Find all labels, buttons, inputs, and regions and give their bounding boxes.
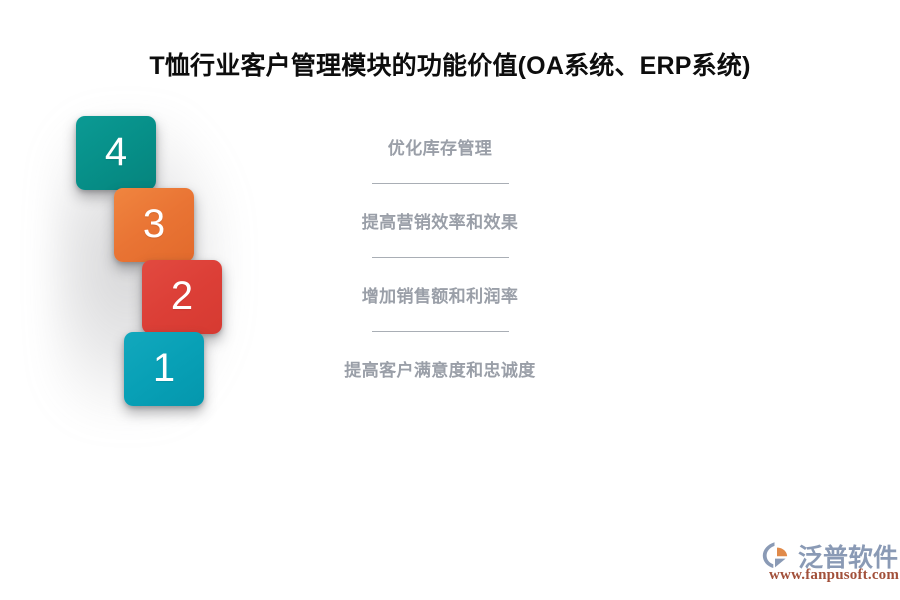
number-tile-2[interactable]: 2	[142, 260, 222, 334]
list-item-label: 提高营销效率和效果	[362, 208, 519, 233]
value-list: 优化库存管理 提高营销效率和效果 增加销售额和利润率 提高客户满意度和忠诚度	[305, 122, 575, 392]
tile-number-label: 3	[143, 204, 165, 244]
list-divider	[305, 244, 575, 270]
slide-canvas: T恤行业客户管理模块的功能价值(OA系统、ERP系统) 4 3 2 1 优化库存…	[0, 0, 900, 600]
brand-url: www.fanpusoft.com	[769, 567, 899, 584]
number-tile-1[interactable]: 1	[124, 332, 204, 406]
list-divider	[305, 318, 575, 344]
list-item-label: 优化库存管理	[388, 134, 492, 159]
tile-number-label: 2	[171, 276, 193, 316]
number-tile-4[interactable]: 4	[76, 116, 156, 190]
list-item-label: 提高客户满意度和忠诚度	[344, 356, 535, 381]
number-tiles-group: 4 3 2 1	[0, 0, 320, 520]
list-item[interactable]: 提高客户满意度和忠诚度	[305, 344, 575, 392]
fanpu-logo-icon	[762, 541, 796, 569]
list-item[interactable]: 优化库存管理	[305, 122, 575, 170]
number-tile-3[interactable]: 3	[114, 188, 194, 262]
tile-number-label: 1	[153, 348, 175, 388]
brand-logo[interactable]: 泛普软件 www.fanpusoft.com	[762, 538, 900, 584]
list-item[interactable]: 增加销售额和利润率	[305, 270, 575, 318]
list-item-label: 增加销售额和利润率	[362, 282, 519, 307]
list-item[interactable]: 提高营销效率和效果	[305, 196, 575, 244]
list-divider	[305, 170, 575, 196]
tile-number-label: 4	[105, 132, 127, 172]
